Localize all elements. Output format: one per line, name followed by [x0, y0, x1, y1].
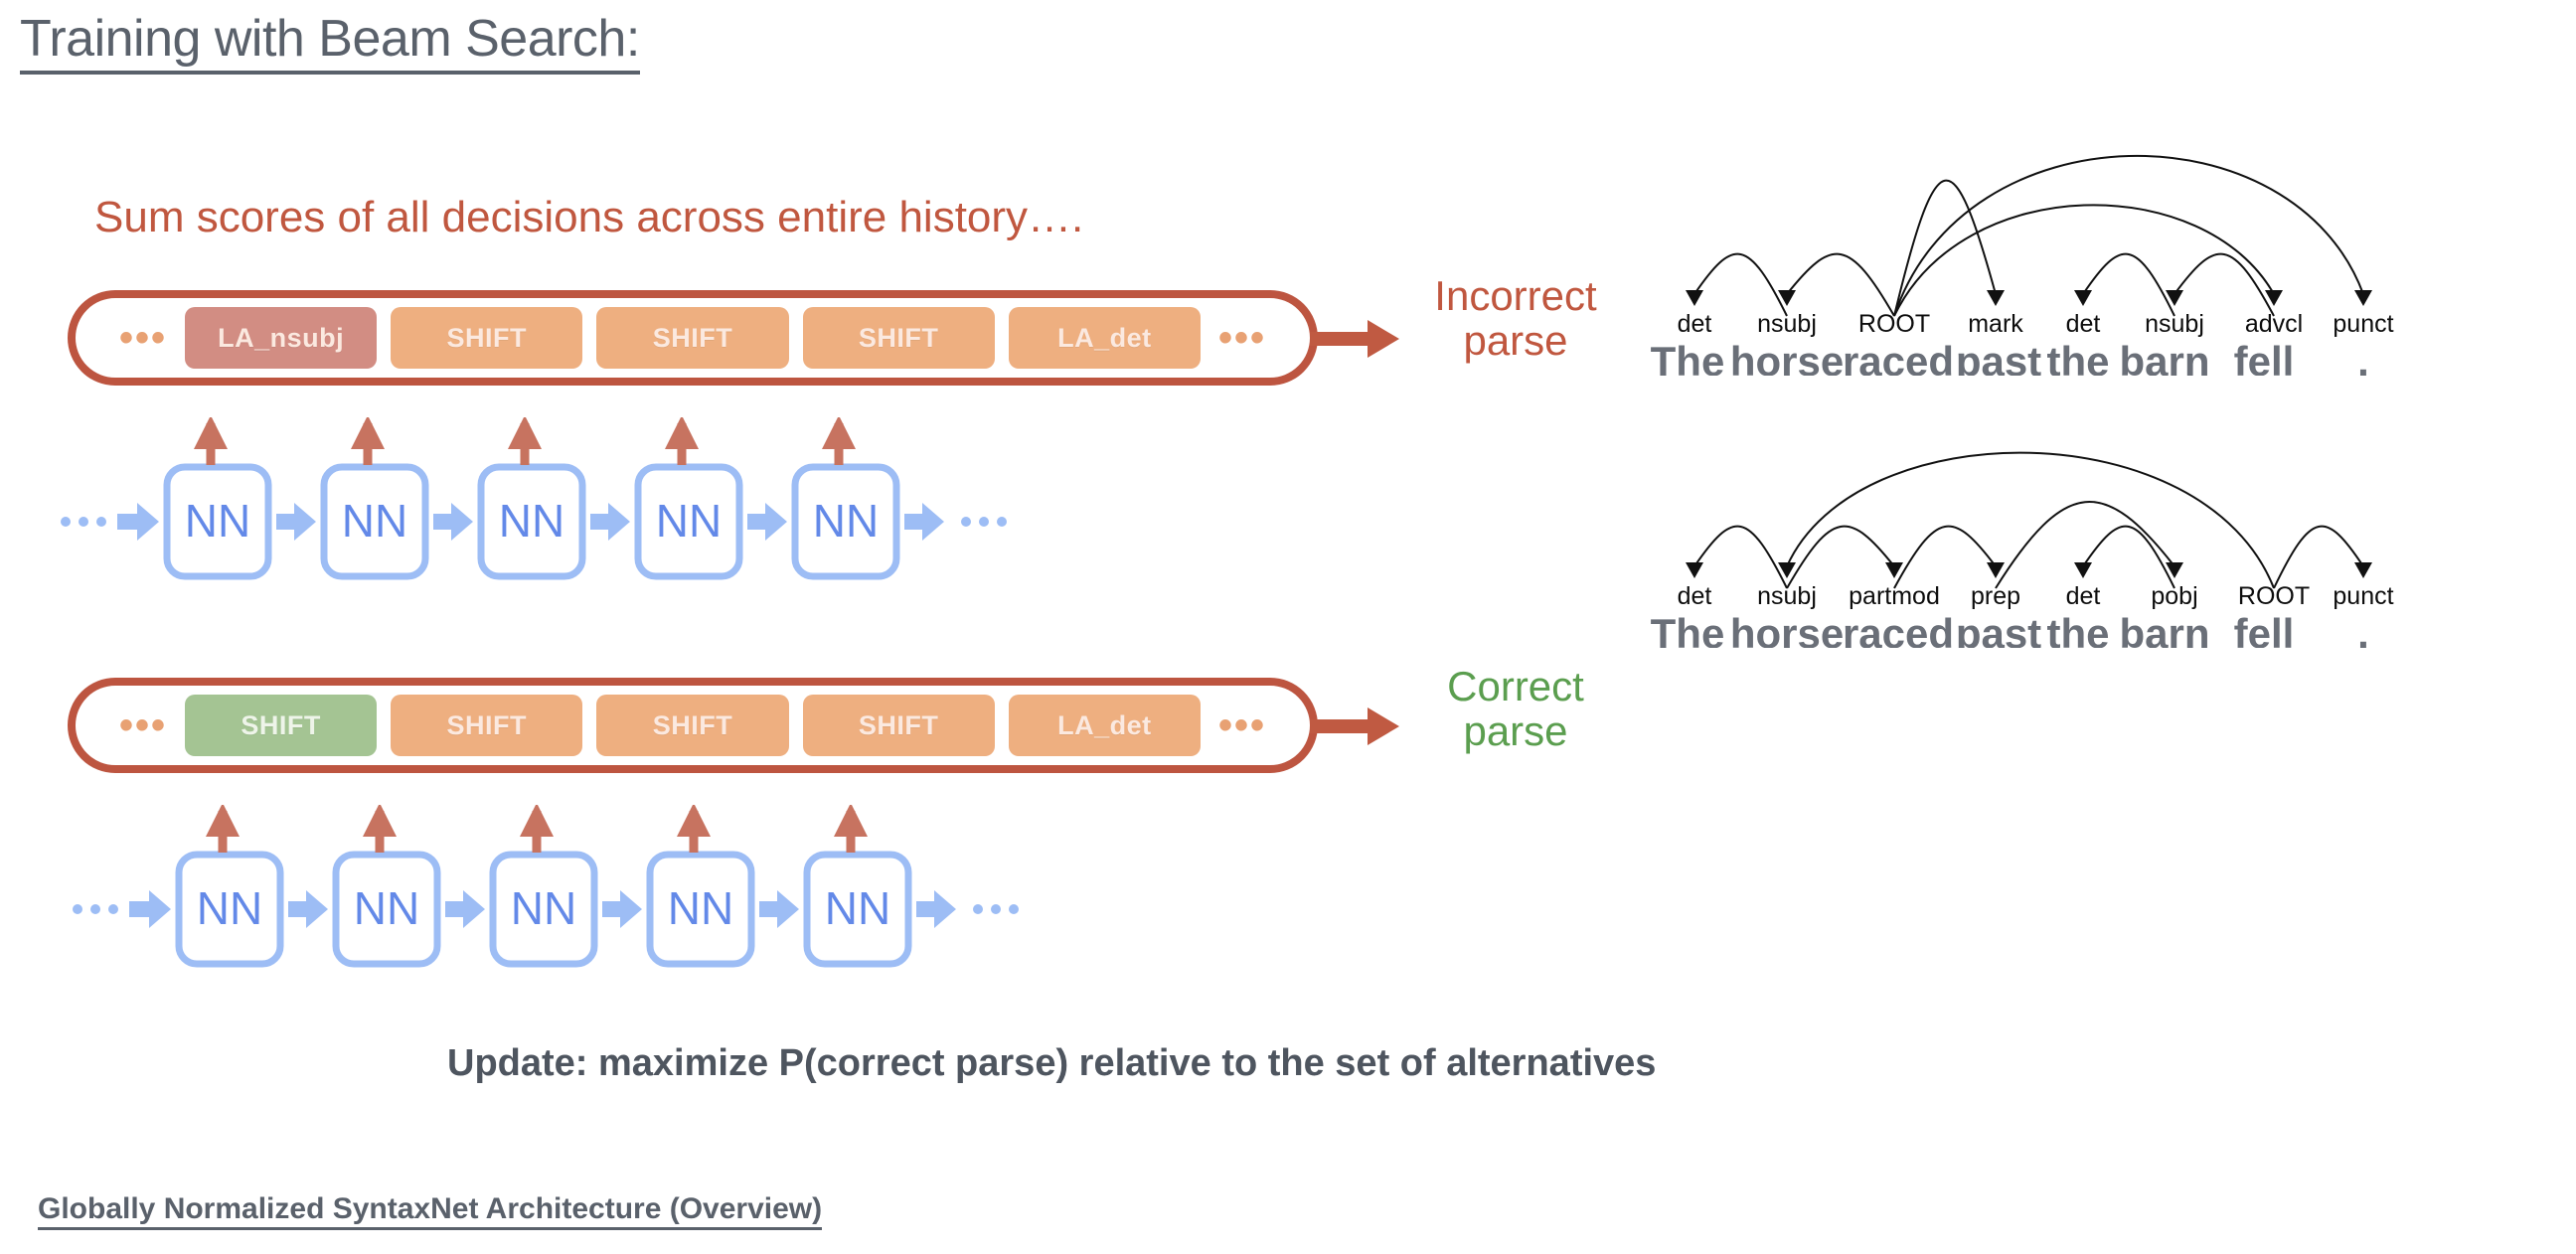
dependency-arc [1787, 254, 1894, 316]
svg-text:NN: NN [185, 495, 250, 547]
sentence-word: . [2357, 610, 2369, 648]
correct-parse-label-line1: Correct [1391, 664, 1640, 708]
svg-text:NN: NN [197, 882, 262, 934]
beam-tiles-incorrect: LA_nsubj SHIFT SHIFT SHIFT LA_det [185, 307, 1201, 369]
dependency-label: det [1678, 310, 1712, 338]
dependency-label: partmod [1849, 582, 1940, 610]
dependency-label: nsubj [2145, 310, 2204, 338]
beam-tiles-correct: SHIFT SHIFT SHIFT SHIFT LA_det [185, 695, 1201, 756]
dependency-label: punct [2333, 582, 2393, 610]
beam-tile[interactable]: SHIFT [596, 307, 788, 369]
sentence-word: the [2047, 610, 2110, 648]
beam-tile[interactable]: SHIFT [596, 695, 788, 756]
dependency-arc [1694, 254, 1787, 316]
dependency-label: nsubj [1757, 582, 1817, 610]
sentence-word: The [1651, 610, 1725, 648]
svg-text:NN: NN [342, 495, 407, 547]
dependency-arrowhead [2074, 562, 2092, 578]
dependency-label: advcl [2245, 310, 2303, 338]
correct-parse-label-line2: parse [1391, 708, 1640, 753]
svg-text:NN: NN [668, 882, 733, 934]
dependency-arc [1787, 453, 2274, 588]
dependency-label: det [2066, 310, 2101, 338]
beam-tile[interactable]: SHIFT [803, 307, 995, 369]
dependency-label: ROOT [2238, 582, 2310, 610]
beam-trailing-ellipsis: ••• [1201, 330, 1284, 346]
beam-tile[interactable]: SHIFT [391, 695, 582, 756]
sum-scores-note: Sum scores of all decisions across entir… [94, 194, 1083, 241]
dependency-label: pobj [2151, 582, 2197, 610]
svg-text:NN: NN [825, 882, 890, 934]
incorrect-parse-label-line2: parse [1391, 318, 1640, 363]
dependency-arrowhead [2354, 562, 2372, 578]
dependency-arc [2174, 254, 2274, 316]
beam-tile[interactable]: LA_nsubj [185, 307, 377, 369]
dependency-arc [1694, 527, 1787, 588]
dependency-label: prep [1971, 582, 2020, 610]
nn-row-incorrect: NN NN NN NN NN [60, 417, 1381, 586]
dependency-arrowhead [1686, 562, 1703, 578]
beam-tile[interactable]: LA_det [1009, 307, 1201, 369]
dependency-parse-correct: detnsubjpartmodprepdetpobjROOTpunctTheho… [1638, 350, 2532, 648]
dependency-label: ROOT [1858, 310, 1930, 338]
incorrect-parse-label: Incorrect parse [1391, 273, 1640, 364]
beam-tile[interactable]: SHIFT [803, 695, 995, 756]
dependency-arc [1894, 527, 1996, 588]
dependency-arrowhead [1987, 562, 2005, 578]
sentence-word: raced [1843, 610, 1954, 648]
dependency-arrowhead [1686, 290, 1703, 306]
sentence-word: past [1956, 610, 2041, 648]
svg-text:NN: NN [813, 495, 879, 547]
dependency-label: nsubj [1757, 310, 1817, 338]
dependency-arrowhead [2354, 290, 2372, 306]
sentence-word: horse [1730, 610, 1844, 648]
dependency-arc [1787, 527, 1894, 588]
dependency-arrowhead [2074, 290, 2092, 306]
dependency-arc [2083, 254, 2174, 316]
dependency-arrowhead [1987, 290, 2005, 306]
dependency-label: det [1678, 582, 1712, 610]
sentence-word: barn [2119, 610, 2209, 648]
beam-tile[interactable]: SHIFT [391, 307, 582, 369]
beam-tile[interactable]: LA_det [1009, 695, 1201, 756]
beam-leading-ellipsis: ••• [101, 717, 185, 733]
dependency-arc [1894, 156, 2363, 316]
dependency-arc [2083, 527, 2174, 588]
beam-output-arrow-incorrect [1310, 316, 1401, 362]
correct-parse-label: Correct parse [1391, 664, 1640, 754]
dependency-arc [1894, 181, 1996, 316]
svg-text:NN: NN [499, 495, 564, 547]
beam-tile[interactable]: SHIFT [185, 695, 377, 756]
dependency-arc [2274, 527, 2363, 588]
dependency-label: punct [2333, 310, 2393, 338]
dependency-arc [1996, 502, 2174, 588]
svg-text:NN: NN [511, 882, 576, 934]
beam-trailing-ellipsis: ••• [1201, 717, 1284, 733]
sentence-word: fell [2234, 610, 2295, 648]
dependency-parse-incorrect: detnsubjROOTmarkdetnsubjadvclpunctThehor… [1638, 78, 2532, 376]
incorrect-parse-label-line1: Incorrect [1391, 273, 1640, 318]
footer-title: Globally Normalized SyntaxNet Architectu… [38, 1192, 822, 1230]
beam-output-arrow-correct [1310, 704, 1401, 749]
update-caption: Update: maximize P(correct parse) relati… [447, 1043, 1656, 1085]
page-title: Training with Beam Search: [20, 12, 640, 75]
dependency-label: mark [1968, 310, 2023, 338]
nn-row-correct: NN NN NN NN NN [72, 805, 1393, 974]
dependency-label: det [2066, 582, 2101, 610]
beam-leading-ellipsis: ••• [101, 330, 185, 346]
svg-text:NN: NN [656, 495, 722, 547]
beam-row-incorrect: ••• LA_nsubj SHIFT SHIFT SHIFT LA_det ••… [68, 290, 1318, 386]
svg-text:NN: NN [354, 882, 419, 934]
beam-row-correct: ••• SHIFT SHIFT SHIFT SHIFT LA_det ••• [68, 678, 1318, 773]
